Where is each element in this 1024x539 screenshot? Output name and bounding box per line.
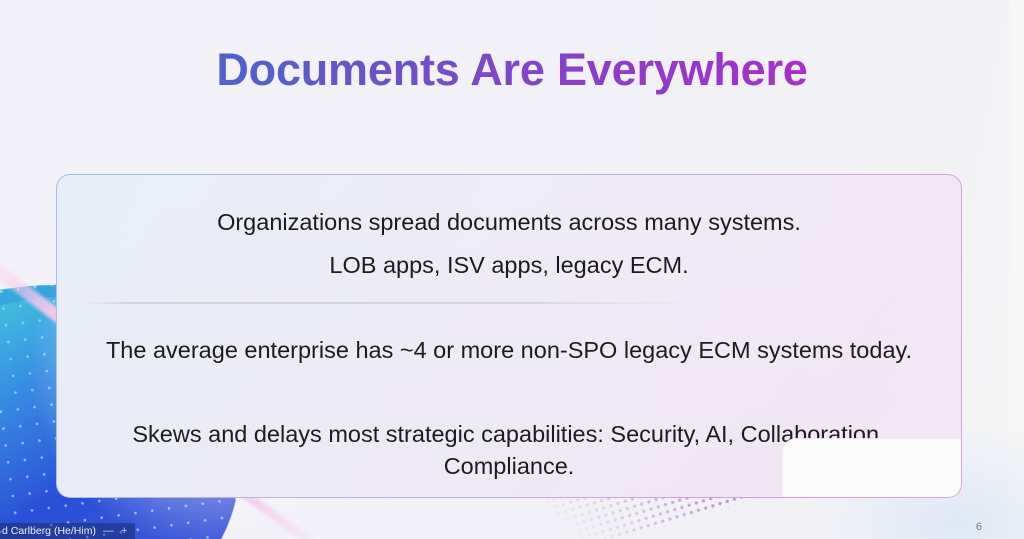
slide-page-number: 6 — [976, 521, 982, 533]
content-card-inner: Organizations spread documents across ma… — [59, 177, 960, 496]
card-line-intro-1: Organizations spread documents across ma… — [59, 207, 960, 237]
presenter-name-label: d Carlberg (He/Him) — [2, 525, 96, 537]
card-divider — [83, 302, 696, 304]
video-pip-placeholder[interactable] — [783, 439, 962, 498]
card-line-intro-2: LOB apps, ISV apps, legacy ECM. — [59, 250, 960, 280]
content-card: Organizations spread documents across ma… — [56, 174, 962, 498]
minimize-icon[interactable]: — — [103, 526, 114, 537]
presentation-slide: Documents Are Everywhere Organizations s… — [0, 0, 1024, 539]
presenter-name-bar: d Carlberg (He/Him) — + — [0, 523, 135, 539]
slide-title: Documents Are Everywhere — [0, 44, 1024, 96]
card-line-stat: The average enterprise has ~4 or more no… — [59, 335, 960, 365]
expand-icon[interactable]: + — [121, 526, 127, 537]
